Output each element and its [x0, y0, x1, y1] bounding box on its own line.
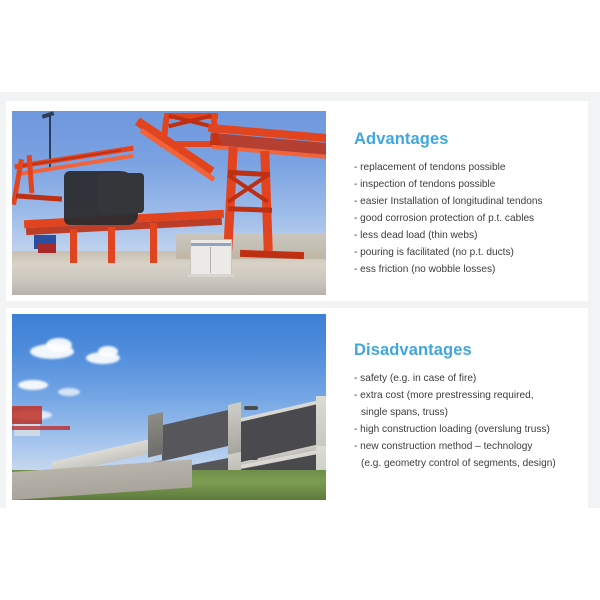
list-item: - ess friction (no wobble losses): [354, 261, 580, 278]
distant-red-band: [12, 426, 70, 430]
cloud-shape: [46, 338, 72, 352]
support-leg-1: [70, 229, 77, 263]
list-item: - pouring is facilitated (no p.t. ducts): [354, 244, 580, 261]
cloud-shape: [58, 388, 80, 396]
list-item: - good corrosion protection of p.t. cabl…: [354, 210, 580, 227]
disadvantages-text-column: Disadvantages - safety (e.g. in case of …: [347, 308, 580, 508]
red-machine: [38, 243, 56, 253]
list-item: - less dead load (thin webs): [354, 227, 580, 244]
disadvantages-photo: [11, 313, 327, 501]
list-item: - inspection of tendons possible: [354, 176, 580, 193]
disadvantages-card: Disadvantages - safety (e.g. in case of …: [6, 308, 588, 508]
cabinet-label: [191, 243, 231, 246]
disadvantages-heading: Disadvantages: [354, 341, 472, 360]
list-item: - new construction method – technology: [354, 438, 580, 455]
list-item: single spans, truss): [354, 404, 580, 421]
slide-page: Advantages - replacement of tendons poss…: [0, 0, 600, 600]
girder-web-tier1-mid: [228, 402, 241, 455]
distant-sign: [12, 406, 42, 424]
disadvantages-photo-inner: [12, 314, 326, 500]
cabinet-base: [188, 274, 234, 277]
girder-web-tier1-left: [148, 412, 163, 457]
advantages-heading: Advantages: [354, 130, 449, 149]
list-item: (e.g. geometry control of segments, desi…: [354, 455, 580, 472]
formwork-panel: [98, 173, 144, 213]
anchor-dots: [244, 456, 258, 460]
advantages-card: Advantages - replacement of tendons poss…: [6, 101, 588, 301]
disadvantages-bullet-list: - safety (e.g. in case of fire) - extra …: [354, 370, 580, 472]
anchor-dots: [244, 406, 258, 410]
advantages-photo: [11, 110, 327, 296]
list-item: - high construction loading (overslung t…: [354, 421, 580, 438]
support-leg-2: [108, 227, 115, 263]
list-item: - easier Installation of longitudinal te…: [354, 193, 580, 210]
support-leg-3: [150, 223, 157, 263]
list-item: - replacement of tendons possible: [354, 159, 580, 176]
cloud-shape: [18, 380, 48, 390]
list-item: - extra cost (more prestressing required…: [354, 387, 580, 404]
advantages-bullet-list: - replacement of tendons possible - insp…: [354, 159, 580, 278]
advantages-text-column: Advantages - replacement of tendons poss…: [347, 101, 580, 301]
cabinet-seam: [210, 247, 211, 273]
list-item: - safety (e.g. in case of fire): [354, 370, 580, 387]
advantages-photo-inner: [12, 111, 326, 295]
cloud-shape: [98, 346, 118, 357]
